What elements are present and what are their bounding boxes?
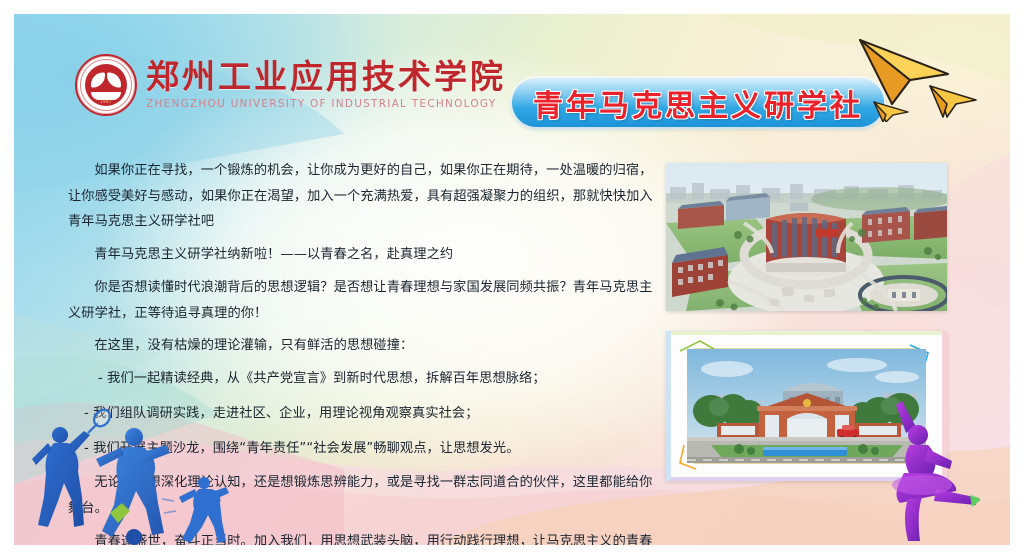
university-seal-icon: 1997 (75, 54, 137, 116)
campus-aerial-photo (666, 163, 947, 311)
university-logo-block: 1997 郑州工业应用技术学院 ZHENGZHOU UNIVERSITY OF … (75, 54, 506, 116)
poster-header: 1997 郑州工业应用技术学院 ZHENGZHOU UNIVERSITY OF … (0, 0, 1024, 150)
paragraph: 你是否想读懂时代浪潮背后的思想逻辑？是否想让青春理想与家国发展同频共振？青年马克… (68, 275, 658, 326)
poster-canvas: 1997 郑州工业应用技术学院 ZHENGZHOU UNIVERSITY OF … (0, 0, 1024, 559)
paragraph: 如果你正在寻找，一个锻炼的机会，让你成为更好的自己，如果你正在期待，一处温暖的归… (68, 158, 658, 235)
paragraph: 在这里，没有枯燥的理论灌输，只有鲜活的思想碰撞： (68, 333, 658, 359)
title-banner: 青年马克思主义研学社 (512, 78, 884, 127)
athlete-silhouettes-icon (14, 405, 264, 545)
paragraph: 青年马克思主义研学社纳新啦！——以青春之名，赴真理之约 (68, 242, 658, 268)
paper-planes-icon (852, 22, 1002, 122)
dancer-silhouette-icon (860, 393, 980, 543)
seal-year: 1997 (100, 99, 111, 104)
university-name-cn: 郑州工业应用技术学院 (146, 60, 506, 95)
university-name-en: ZHENGZHOU UNIVERSITY OF INDUSTRIAL TECHN… (146, 98, 506, 110)
bullet-item: - 我们一起精读经典，从《共产党宣言》到新时代思想，拆解百年思想脉络； (68, 366, 658, 392)
university-name-stack: 郑州工业应用技术学院 ZHENGZHOU UNIVERSITY OF INDUS… (146, 60, 506, 110)
title-banner-text: 青年马克思主义研学社 (533, 81, 863, 125)
